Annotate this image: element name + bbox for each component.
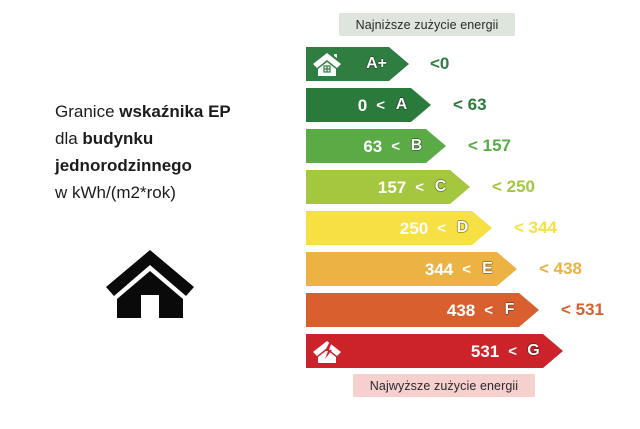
band-content: 344<E (306, 252, 497, 286)
energy-rows: A+<00<A< 6363<B< 157157<C< 250250<D< 344… (306, 47, 640, 375)
lowest-consumption-label: Najniższe zużycie energii (339, 13, 515, 36)
energy-band-b[interactable]: 63<B (306, 129, 446, 163)
page-title: Granice wskaźnika EP dla budynku jednoro… (55, 98, 290, 206)
energy-row: 344<E< 438 (306, 252, 640, 286)
less-than-operator: < (415, 180, 424, 195)
lower-bound-value: 531 (471, 343, 499, 360)
lower-bound-value: 438 (447, 302, 475, 319)
energy-row: 438<F< 531 (306, 293, 640, 327)
grade-letter: F (502, 302, 517, 318)
band-content: 157<C (306, 170, 450, 204)
caption-line-1-bold: wskaźnika EP (119, 102, 231, 121)
band-content: A+ (306, 47, 389, 81)
grade-letter: A+ (366, 56, 387, 72)
grade-letter: G (526, 343, 541, 359)
energy-band-g[interactable]: 531<G (306, 334, 563, 368)
less-than-operator: < (437, 221, 446, 236)
upper-bound-value: < 63 (453, 88, 487, 122)
upper-bound-value: <0 (430, 47, 449, 81)
band-content: 63<B (306, 129, 426, 163)
upper-bound-value: < 438 (539, 252, 582, 286)
grade-letter: C (433, 179, 448, 195)
energy-row: 531<G (306, 334, 640, 368)
energy-band-f[interactable]: 438<F (306, 293, 539, 327)
energy-band-a[interactable]: 0<A (306, 88, 431, 122)
energy-row: 0<A< 63 (306, 88, 640, 122)
grade-letter: A (394, 97, 409, 113)
less-than-operator: < (376, 98, 385, 113)
energy-row: 157<C< 250 (306, 170, 640, 204)
highest-consumption-label: Najwyższe zużycie energii (353, 374, 535, 397)
lower-bound-value: 250 (400, 220, 428, 237)
less-than-operator: < (462, 262, 471, 277)
band-content: 438<F (306, 293, 519, 327)
grade-letter: E (480, 261, 495, 277)
caption-line-2-plain: dla (55, 129, 82, 148)
grade-letter: B (409, 138, 424, 154)
energy-label-chart: Granice wskaźnika EP dla budynku jednoro… (0, 0, 640, 429)
energy-row: 250<D< 344 (306, 211, 640, 245)
lower-bound-value: 63 (363, 138, 382, 155)
upper-bound-value: < 250 (492, 170, 535, 204)
band-content: 531<G (306, 334, 543, 368)
caption-line-3-bold: jednorodzinnego (55, 156, 192, 175)
upper-bound-value: < 531 (561, 293, 604, 327)
grade-letter: D (455, 220, 470, 236)
energy-row: 63<B< 157 (306, 129, 640, 163)
caption-line-4-plain: w kWh/(m2*rok) (55, 183, 176, 202)
band-content: 250<D (306, 211, 472, 245)
upper-bound-value: < 344 (514, 211, 557, 245)
energy-band-e[interactable]: 344<E (306, 252, 517, 286)
lower-bound-value: 344 (425, 261, 453, 278)
house-icon (104, 247, 196, 321)
energy-row: A+<0 (306, 47, 640, 81)
less-than-operator: < (508, 344, 517, 359)
energy-band-a-plus[interactable]: A+ (306, 47, 409, 81)
lower-bound-value: 0 (358, 97, 367, 114)
less-than-operator: < (391, 139, 400, 154)
upper-bound-value: < 157 (468, 129, 511, 163)
caption-line-1-plain: Granice (55, 102, 119, 121)
less-than-operator: < (484, 303, 493, 318)
caption-line-2-bold: budynku (82, 129, 153, 148)
energy-band-c[interactable]: 157<C (306, 170, 470, 204)
energy-band-d[interactable]: 250<D (306, 211, 492, 245)
energy-scale: Najniższe zużycie energii A+<00<A< 6363<… (306, 0, 640, 429)
band-content: 0<A (306, 88, 411, 122)
lower-bound-value: 157 (378, 179, 406, 196)
